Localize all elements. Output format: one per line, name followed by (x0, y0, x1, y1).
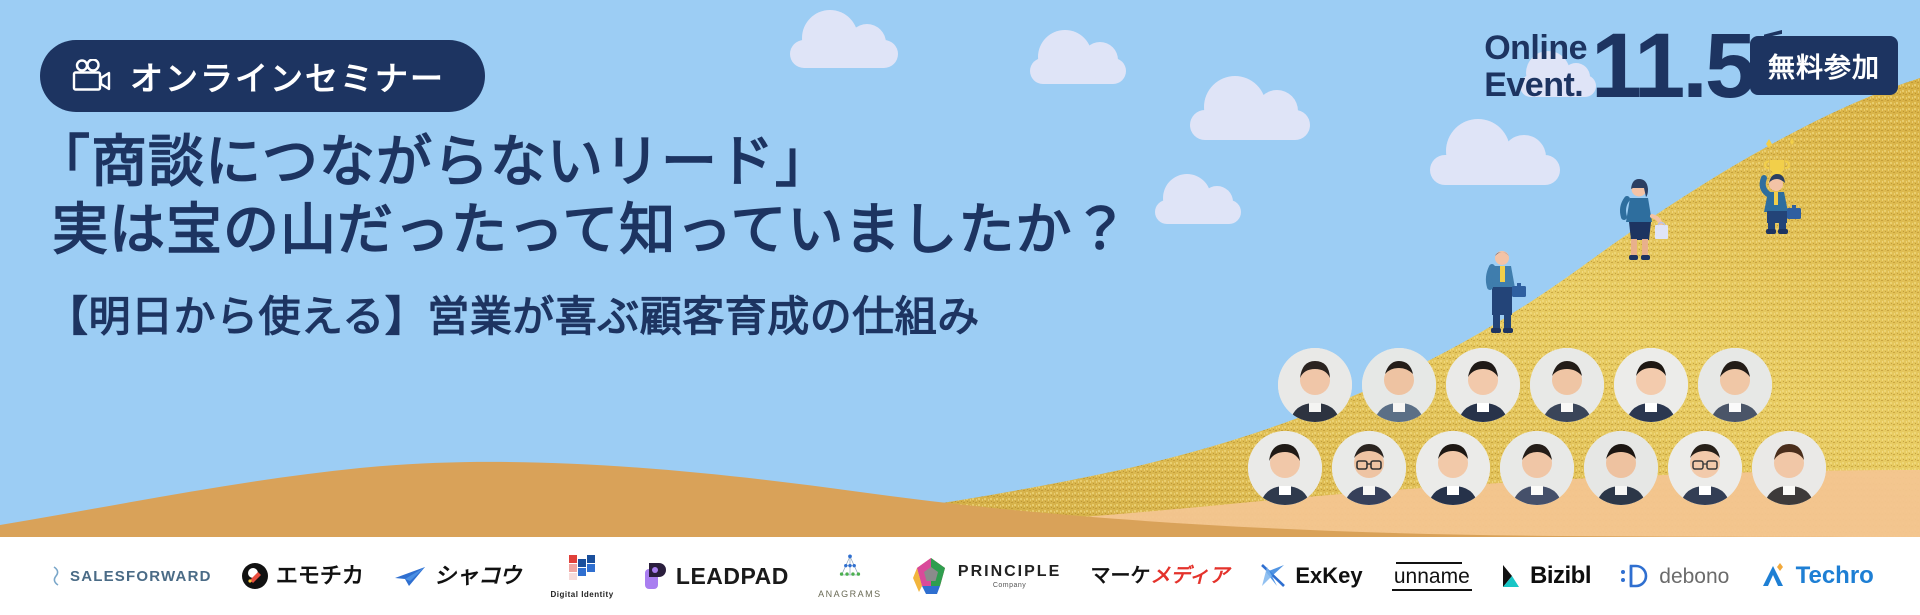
headline-line-3: 【明日から使える】営業が喜ぶ顧客育成の仕組み (34, 283, 1129, 344)
logo-shakou[interactable]: シャコウ (393, 553, 521, 599)
logo-label: ANAGRAMS (818, 589, 882, 599)
exkey-mark-icon (1258, 562, 1288, 590)
logo-unname[interactable]: unname (1392, 553, 1472, 599)
logo-label: debono (1659, 566, 1729, 587)
avatar (1530, 348, 1604, 422)
logo-label: unname (1394, 565, 1470, 588)
avatar (1362, 348, 1436, 422)
principle-mark-icon (911, 556, 951, 596)
logo-label: Digital Identity (551, 590, 614, 599)
avatar (1446, 348, 1520, 422)
logo-label: ExKey (1295, 565, 1362, 587)
bizibl-play-icon (1501, 563, 1523, 589)
logo-label: LEADPAD (676, 565, 789, 588)
event-label: Event. (1484, 67, 1587, 104)
walking-businessman-illustration (1478, 248, 1530, 339)
climber-with-trophy-illustration (1740, 138, 1814, 239)
logo-marke-media[interactable]: マーケメディア (1090, 553, 1229, 599)
avatar (1278, 348, 1352, 422)
logo-label: シャコウ (434, 565, 521, 587)
online-label: Online (1484, 30, 1587, 67)
logo-salesforward[interactable]: SALESFORWARD (46, 553, 212, 599)
salesforward-mark-icon (46, 566, 63, 586)
speaker-avatars (1278, 348, 1826, 505)
logo-emochika[interactable]: エモチカ (241, 553, 364, 599)
seminar-badge-label: オンラインセミナー (130, 52, 445, 100)
logo-label: Bizibl (1530, 564, 1591, 588)
shakou-paperplane-icon (393, 564, 427, 588)
headline-block: 「商談につながらないリード」 実は宝の山だったって知っていましたか？ 【明日から… (34, 128, 1129, 344)
logo-label: エモチカ (276, 565, 364, 587)
logo-debono[interactable]: debono (1620, 553, 1729, 599)
speaker-avatar-row (1278, 348, 1826, 422)
logo-sublabel: Company (993, 582, 1026, 589)
free-participation-badge[interactable]: 無料参加 (1750, 36, 1898, 95)
logo-principle[interactable]: PRINCIPLE Company (911, 553, 1061, 599)
headline-line-2: 実は宝の山だったって知っていましたか？ (52, 198, 1129, 261)
online-event-label: Online Event. (1484, 18, 1587, 103)
logo-label: SALESFORWARD (70, 569, 212, 584)
avatar (1698, 348, 1772, 422)
logo-techro[interactable]: Techro (1759, 553, 1874, 599)
avatar (1752, 431, 1826, 505)
leadpad-mark-icon (643, 561, 669, 591)
avatar (1500, 431, 1574, 505)
avatar (1668, 431, 1742, 505)
seminar-badge: オンラインセミナー (40, 40, 485, 112)
avatar (1248, 431, 1322, 505)
avatar (1584, 431, 1658, 505)
debono-mark-icon (1620, 563, 1652, 589)
emochika-mark-icon (241, 562, 269, 590)
logo-anagrams[interactable]: ANAGRAMS (818, 553, 882, 599)
logo-exkey[interactable]: ExKey (1258, 553, 1362, 599)
headline-line-1: 「商談につながらないリード」 (34, 128, 1129, 196)
anagrams-mark-icon (830, 553, 870, 580)
avatar (1614, 348, 1688, 422)
event-date: 11.5 (1591, 20, 1753, 112)
techro-mark-icon (1759, 562, 1789, 590)
logo-bizibl[interactable]: Bizibl (1501, 553, 1591, 599)
logo-leadpad[interactable]: LEADPAD (643, 553, 789, 599)
event-date-block: Online Event. 11.5 WED (1484, 18, 1788, 112)
logo-digital-identity[interactable]: Digital Identity (551, 553, 614, 599)
logo-label: PRINCIPLE (958, 564, 1061, 580)
logo-label: Techro (1796, 564, 1874, 588)
avatar (1332, 431, 1406, 505)
speaker-avatar-row (1248, 431, 1826, 505)
digital-identity-mark-icon (567, 553, 597, 581)
businesswoman-illustration (1613, 178, 1669, 267)
webinar-banner: オンラインセミナー 「商談につながらないリード」 実は宝の山だったって知っていま… (0, 0, 1920, 615)
video-camera-icon (70, 59, 112, 93)
sponsor-logo-bar: SALESFORWARD エモチカ シャコウ (0, 537, 1920, 615)
logo-label: マーケメディア (1090, 566, 1229, 586)
avatar (1416, 431, 1490, 505)
